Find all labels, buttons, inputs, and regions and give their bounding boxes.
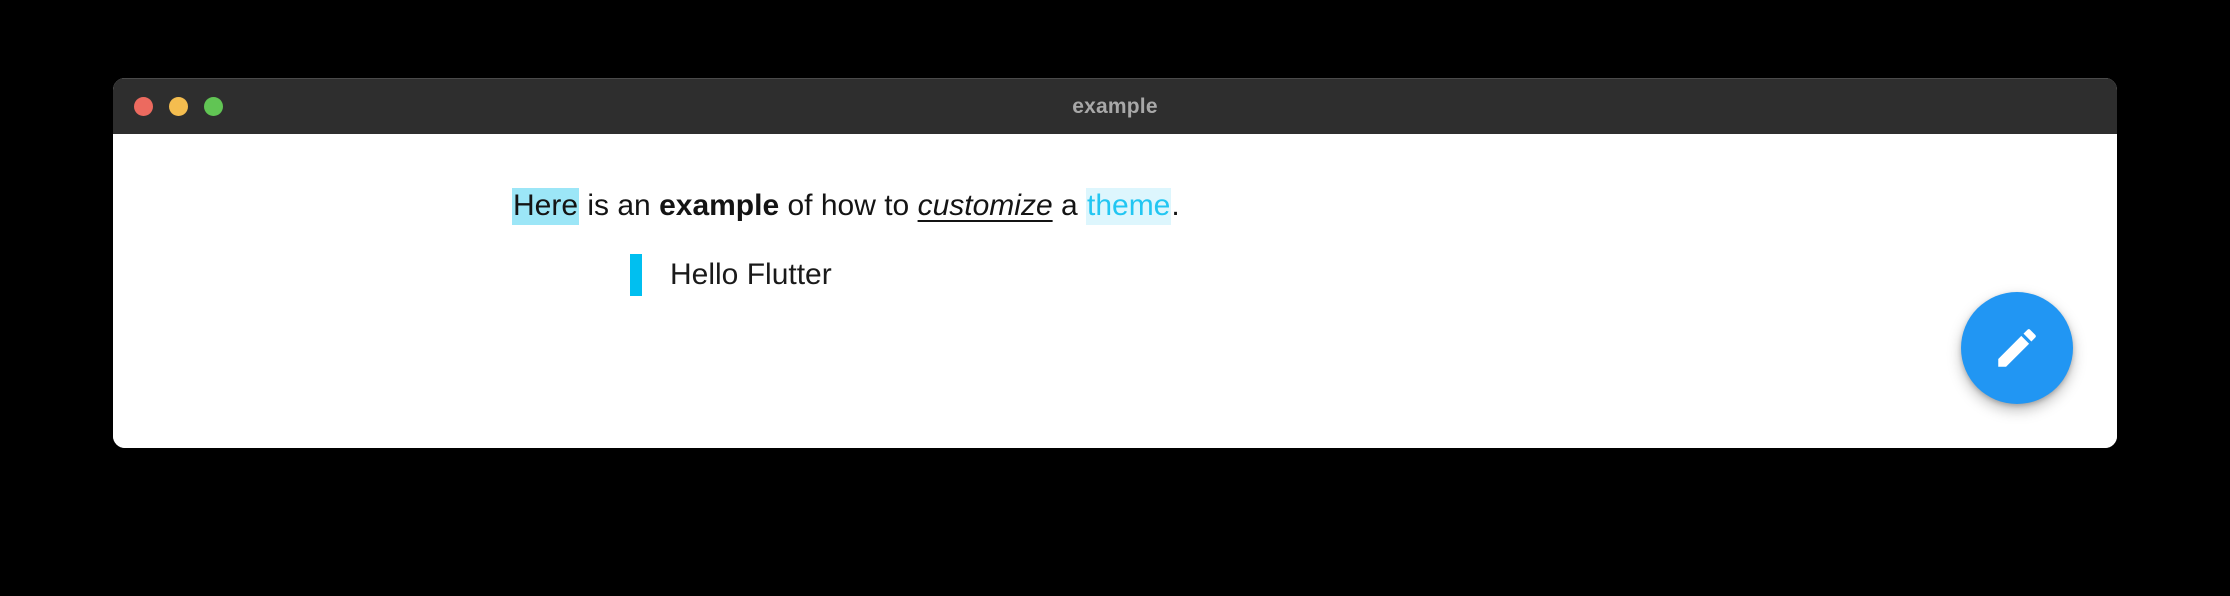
text-segment-period: . (1171, 189, 1179, 222)
minimize-window-button[interactable] (169, 97, 188, 116)
edit-fab-button[interactable] (1961, 292, 2073, 404)
text-segment-theme-link[interactable]: theme (1086, 188, 1171, 225)
text-segment-plain-1: is an (579, 189, 659, 222)
window-traffic-lights (134, 79, 223, 134)
window-title-bar[interactable]: example (113, 78, 2117, 134)
text-segment-italic-underline: customize (918, 189, 1053, 222)
blockquote: Hello Flutter (630, 254, 832, 296)
text-segment-plain-3: a (1053, 189, 1086, 222)
window-content-area: Here is an example of how to customize a… (113, 134, 2117, 448)
text-segment-plain-2: of how to (779, 189, 917, 222)
pencil-icon (1992, 323, 2042, 373)
application-window: example Here is an example of how to cus… (113, 78, 2117, 448)
maximize-window-button[interactable] (204, 97, 223, 116)
blockquote-accent-bar (630, 254, 642, 296)
text-segment-bold: example (659, 189, 779, 222)
blockquote-text: Hello Flutter (670, 258, 832, 292)
rich-text-paragraph: Here is an example of how to customize a… (512, 191, 1180, 221)
close-window-button[interactable] (134, 97, 153, 116)
window-title: example (113, 95, 2117, 119)
text-segment-highlight: Here (512, 188, 579, 225)
desktop-backdrop: example Here is an example of how to cus… (0, 0, 2230, 596)
